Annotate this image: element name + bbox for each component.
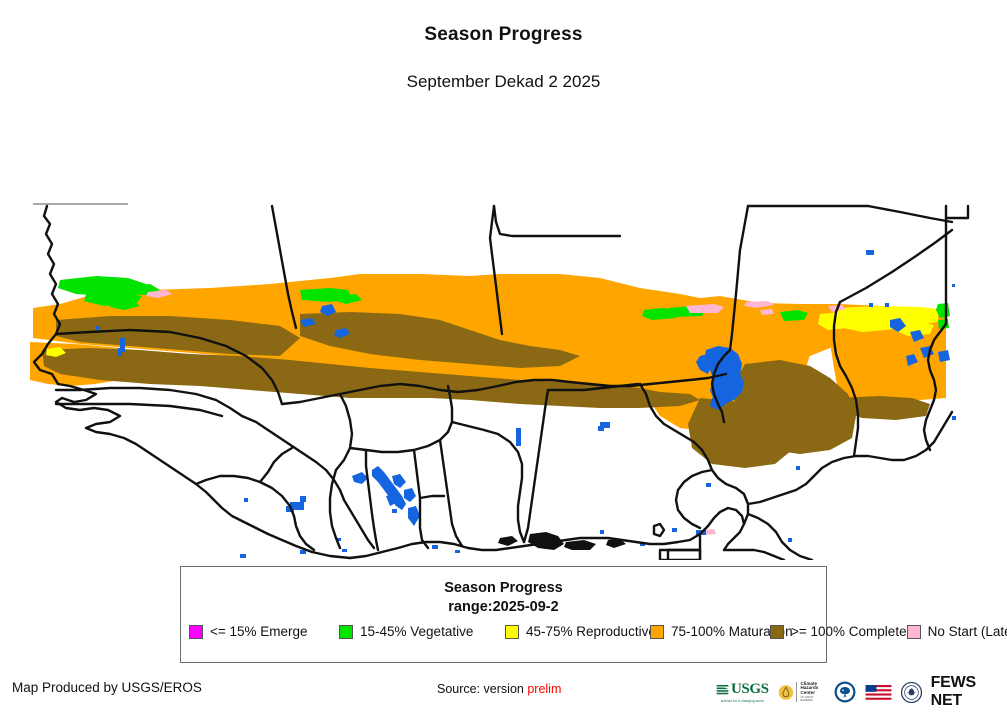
legend-label-reproductive: 45-75% Reproductive — [526, 625, 656, 639]
us-flag[interactable] — [865, 677, 892, 707]
source-prefix: Source: version — [437, 682, 524, 696]
legend-item-complete[interactable]: >= 100% Complete — [770, 622, 907, 641]
legend-label-emerge: <= 15% Emerge — [210, 625, 308, 639]
source-version: prelim — [527, 682, 561, 696]
us-flag-icon — [865, 685, 892, 700]
map-credit: Map Produced by USGS/EROS — [12, 680, 202, 695]
usgs-wordmark: USGS — [731, 682, 769, 697]
legend-item-vegetative[interactable]: 15-45% Vegetative — [339, 622, 505, 641]
legend-title: Season Progress — [181, 579, 826, 598]
map-graphic — [0, 98, 1007, 560]
source-note: Source: version prelim — [437, 682, 561, 696]
legend-item-no-start-late[interactable]: No Start (Late) — [907, 622, 1007, 641]
state-department-seal-icon — [901, 682, 922, 703]
legend-label-no-start-late: No Start (Late) — [928, 625, 1007, 639]
fewsnet-wordmark: FEWS NET — [931, 674, 1007, 710]
page-title: Season Progress — [0, 24, 1007, 46]
noaa-logo[interactable] — [834, 677, 856, 707]
usgs-wave-icon — [716, 683, 729, 696]
legend-label-complete: >= 100% Complete — [791, 625, 907, 639]
state-dept-seal[interactable] — [901, 677, 922, 707]
fewsnet-logo[interactable]: FEWS NET — [931, 677, 1007, 707]
chc-wordmark: Climate Hazards Center UC SANTA BARBARA — [796, 682, 824, 703]
usgs-tagline: science for a changing world — [721, 698, 764, 703]
legend-range: range:2025-09-2 — [181, 598, 826, 617]
legend-label-vegetative: 15-45% Vegetative — [360, 625, 473, 639]
legend-item-emerge[interactable]: <= 15% Emerge — [189, 622, 339, 641]
legend-swatch-no-start-late — [907, 625, 921, 639]
legend-item-reproductive[interactable]: 45-75% Reproductive — [505, 622, 650, 641]
map-canvas[interactable] — [0, 98, 1007, 560]
chc-subline: UC SANTA BARBARA — [800, 697, 824, 702]
noaa-seabird-icon — [834, 681, 856, 703]
page-subtitle: September Dekad 2 2025 — [0, 72, 1007, 92]
legend-swatch-vegetative — [339, 625, 353, 639]
season-progress-map-page: Season Progress September Dekad 2 2025 — [0, 0, 1007, 715]
legend-swatch-reproductive — [505, 625, 519, 639]
legend-items: <= 15% Emerge 15-45% Vegetative 45-75% R… — [189, 622, 821, 641]
partner-logos: USGS science for a changing world Climat… — [716, 675, 1007, 709]
legend-swatch-emerge — [189, 625, 203, 639]
legend-box: Season Progress range:2025-09-2 <= 15% E… — [180, 566, 827, 663]
legend-item-maturation[interactable]: 75-100% Maturation — [650, 622, 770, 641]
legend-swatch-complete — [770, 625, 784, 639]
usgs-logo[interactable]: USGS science for a changing world — [716, 677, 769, 707]
water-drop-icon — [778, 684, 794, 701]
legend-swatch-maturation — [650, 625, 664, 639]
chc-logo[interactable]: Climate Hazards Center UC SANTA BARBARA — [778, 677, 825, 707]
